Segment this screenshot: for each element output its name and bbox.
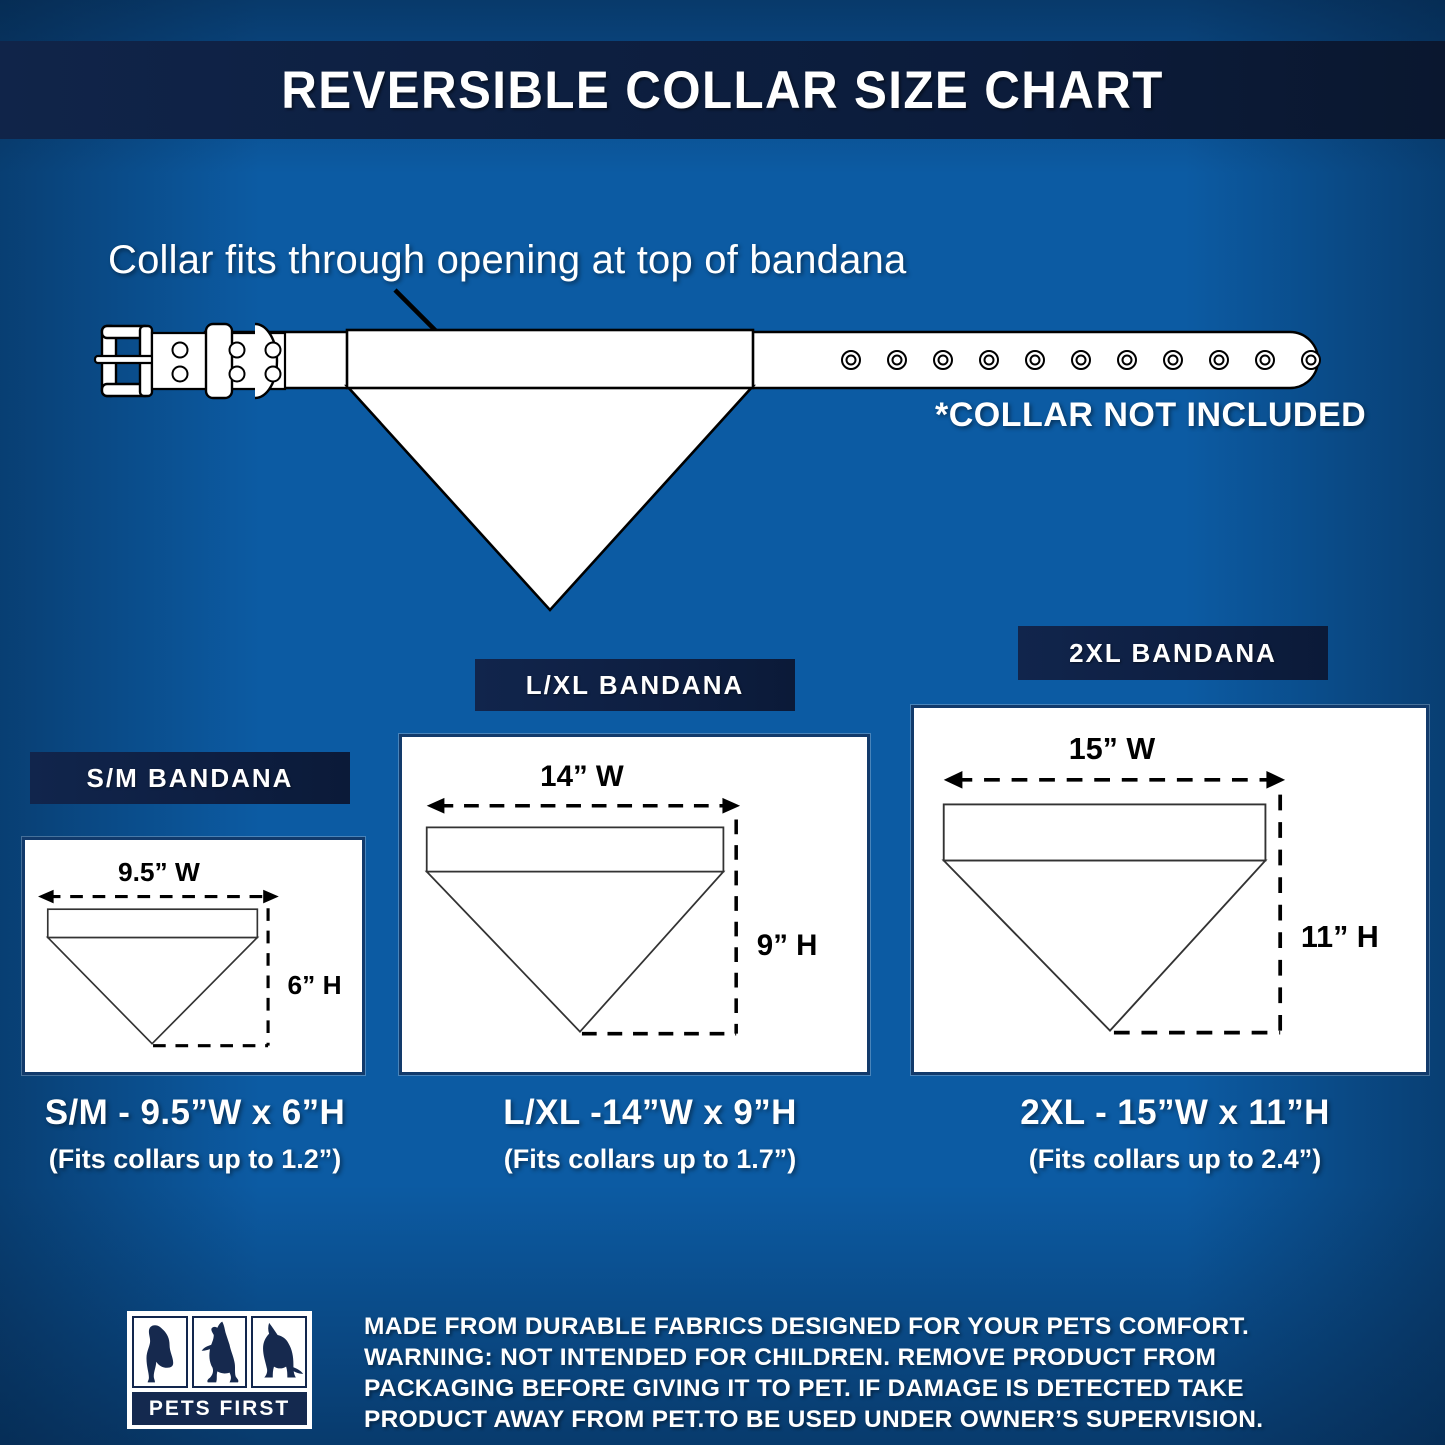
caption-2xl-main: 2XL - 15”W x 11”H [975,1093,1375,1133]
size-diagram-2xl: 15” W 11” H [914,708,1426,1072]
caption-2xl-sub: (Fits collars up to 2.4”) [975,1144,1375,1175]
pets-first-logo: PETS FIRST [127,1311,312,1429]
callout-text: Collar fits through opening at top of ba… [108,238,906,283]
height-label-lxl: 9” H [757,929,818,962]
disclaimer-line-3: PACKAGING BEFORE GIVING IT TO PET. IF DA… [364,1373,1349,1404]
footer-disclaimer: MADE FROM DURABLE FABRICS DESIGNED FOR Y… [364,1311,1349,1435]
caption-lxl: L/XL -14”W x 9”H (Fits collars up to 1.7… [455,1093,845,1175]
size-box-lxl: 14” W 9” H [399,734,870,1075]
size-diagram-lxl: 14” W 9” H [402,737,867,1072]
disclaimer-line-1: MADE FROM DURABLE FABRICS DESIGNED FOR Y… [364,1311,1349,1342]
size-label-2xl: 2XL BANDANA [1018,626,1328,680]
dog-sitting-silhouette-icon [132,1316,188,1388]
width-label-lxl: 14” W [540,760,624,793]
dog-shepherd-silhouette-icon [251,1316,307,1388]
header-bar: REVERSIBLE COLLAR SIZE CHART [0,41,1445,139]
size-label-lxl: L/XL BANDANA [475,659,795,711]
caption-lxl-sub: (Fits collars up to 1.7”) [455,1144,845,1175]
size-diagram-sm: 9.5” W 6” H [25,840,362,1072]
size-box-sm: 9.5” W 6” H [22,837,365,1075]
width-label-2xl: 15” W [1069,732,1156,766]
dog-howling-silhouette-icon [192,1316,248,1388]
disclaimer-line-2: WARNING: NOT INTENDED FOR CHILDREN. REMO… [364,1342,1349,1373]
height-label-sm: 6” H [288,970,342,1000]
collar-bandana-illustration [85,280,1375,620]
size-label-2xl-text: 2XL BANDANA [1069,638,1277,669]
logo-wordmark: PETS FIRST [132,1392,307,1425]
disclaimer-line-4: PRODUCT AWAY FROM PET.TO BE USED UNDER O… [364,1404,1349,1435]
width-label-sm: 9.5” W [118,857,200,887]
size-label-sm-text: S/M BANDANA [87,763,294,794]
caption-sm-main: S/M - 9.5”W x 6”H [0,1093,390,1133]
size-box-2xl: 15” W 11” H [911,705,1429,1075]
caption-sm-sub: (Fits collars up to 1.2”) [0,1144,390,1175]
height-label-2xl: 11” H [1301,920,1379,954]
caption-lxl-main: L/XL -14”W x 9”H [455,1093,845,1133]
caption-sm: S/M - 9.5”W x 6”H (Fits collars up to 1.… [0,1093,390,1175]
caption-2xl: 2XL - 15”W x 11”H (Fits collars up to 2.… [975,1093,1375,1175]
size-label-sm: S/M BANDANA [30,752,350,804]
page-title: REVERSIBLE COLLAR SIZE CHART [281,60,1164,121]
size-label-lxl-text: L/XL BANDANA [526,670,745,701]
